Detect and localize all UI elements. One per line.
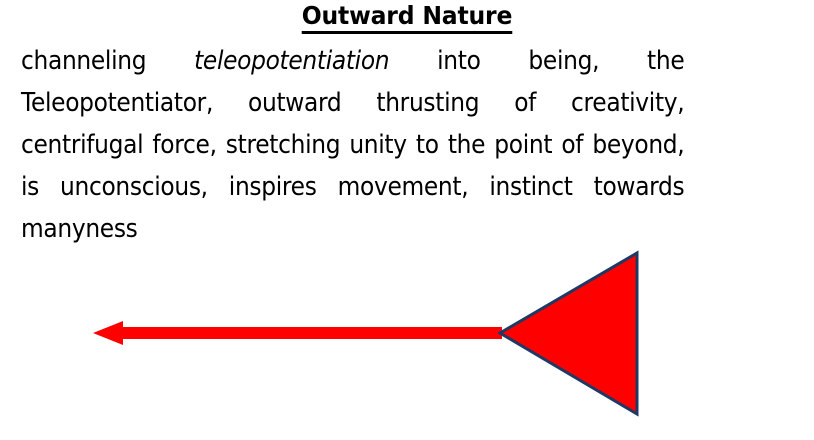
outward-nature-diagram: OUTWARD NATURE <box>0 230 814 440</box>
page-title: Outward Nature <box>302 2 512 34</box>
italic-term-teleopotentiation: teleopotentiation <box>194 46 389 76</box>
outward-nature-triangle-icon <box>500 253 637 414</box>
arrow-shaft <box>121 327 502 339</box>
arrow-head-left-icon <box>93 321 123 345</box>
diagram-graphics <box>0 230 814 440</box>
slide-canvas: Outward Nature channeling teleopotentiat… <box>0 0 814 440</box>
title-block: Outward Nature <box>0 2 814 34</box>
body-text-segment-1: channeling <box>21 46 194 76</box>
